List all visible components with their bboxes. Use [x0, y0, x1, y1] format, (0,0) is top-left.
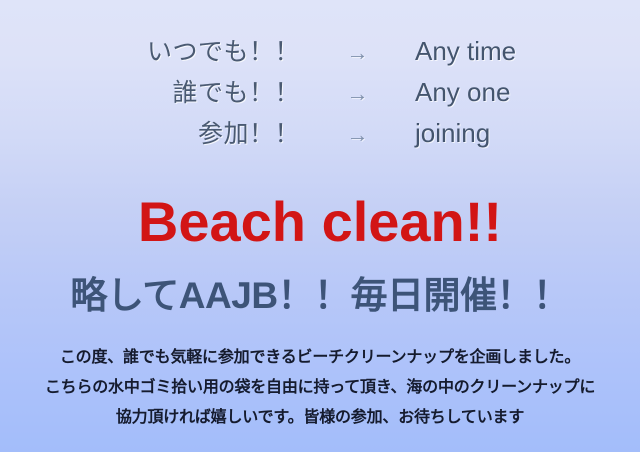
arrow-right-icon: → — [300, 73, 415, 114]
translation-english: Any time — [415, 31, 640, 72]
arrow-right-icon: → — [300, 32, 415, 73]
translation-english: joining — [415, 113, 640, 154]
body-line: 協力頂ければ嬉しいです。皆様の参加、お待ちしています — [0, 403, 640, 433]
translation-row: 参加！！ → joining — [0, 113, 640, 154]
poster-canvas: いつでも！！ → Any time 誰でも！！ → Any one 参加！！ →… — [0, 0, 640, 452]
translation-row: いつでも！！ → Any time — [0, 31, 640, 72]
body-line: こちらの水中ゴミ拾い用の袋を自由に持って頂き、海の中のクリーンナップに — [0, 373, 640, 403]
translation-row: 誰でも！！ → Any one — [0, 72, 640, 113]
body-line: この度、誰でも気軽に参加できるビーチクリーンナップを企画しました。 — [0, 343, 640, 373]
translation-japanese: 参加！！ — [0, 114, 300, 155]
translation-list: いつでも！！ → Any time 誰でも！！ → Any one 参加！！ →… — [0, 31, 640, 154]
poster-subheadline: 略してAAJB！！毎日開催！！ — [0, 272, 640, 320]
poster-headline: Beach clean!! — [0, 190, 640, 254]
arrow-right-icon: → — [300, 114, 415, 155]
poster-body-copy: この度、誰でも気軽に参加できるビーチクリーンナップを企画しました。 こちらの水中… — [0, 343, 640, 433]
translation-japanese: いつでも！！ — [0, 32, 300, 73]
translation-english: Any one — [415, 72, 640, 113]
translation-japanese: 誰でも！！ — [0, 73, 300, 114]
